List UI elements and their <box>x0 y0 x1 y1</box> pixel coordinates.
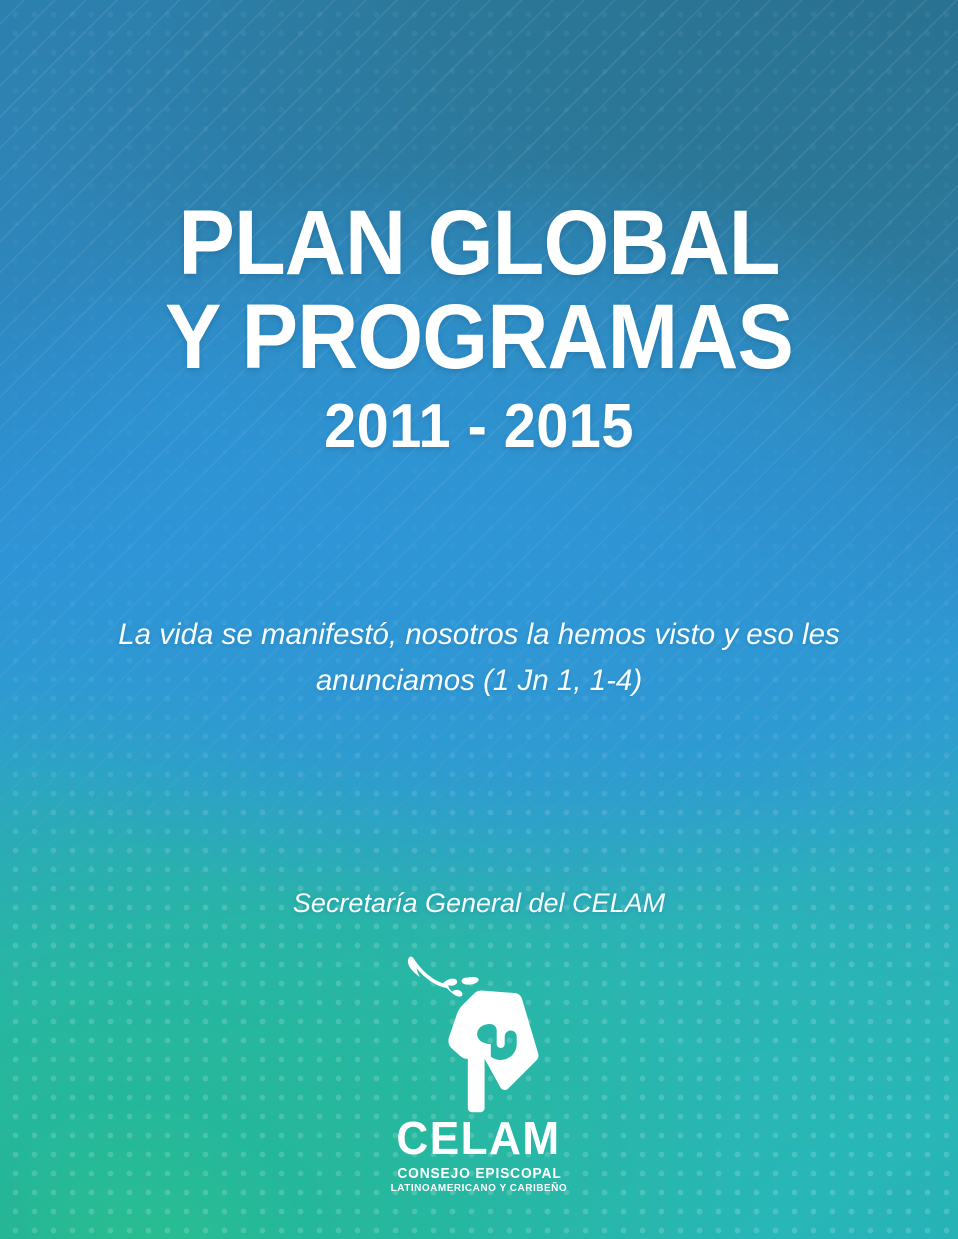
title-year-range: 2011 - 2015 <box>34 396 925 458</box>
book-cover: PLAN GLOBAL Y PROGRAMAS 2011 - 2015 La v… <box>0 0 958 1239</box>
celam-wordmark: CELAM <box>397 1115 561 1161</box>
page-title: PLAN GLOBAL Y PROGRAMAS 2011 - 2015 <box>0 198 958 458</box>
cover-content: PLAN GLOBAL Y PROGRAMAS 2011 - 2015 La v… <box>0 0 958 1239</box>
title-line-1: PLAN GLOBAL <box>38 198 919 288</box>
title-line-2: Y PROGRAMAS <box>38 292 919 382</box>
publisher-attribution: Secretaría General del CELAM <box>0 888 958 919</box>
celam-logo: CELAM CONSEJO EPISCOPAL LATINOAMERICANO … <box>379 948 579 1195</box>
celam-subtitle-line-1: CONSEJO EPISCOPAL <box>397 1166 561 1182</box>
celam-subtitle-line-2: LATINOAMERICANO Y CARIBEÑO <box>391 1183 568 1195</box>
scripture-quote: La vida se manifestó, nosotros la hemos … <box>89 612 869 703</box>
celam-latin-america-cross-icon <box>404 948 554 1113</box>
